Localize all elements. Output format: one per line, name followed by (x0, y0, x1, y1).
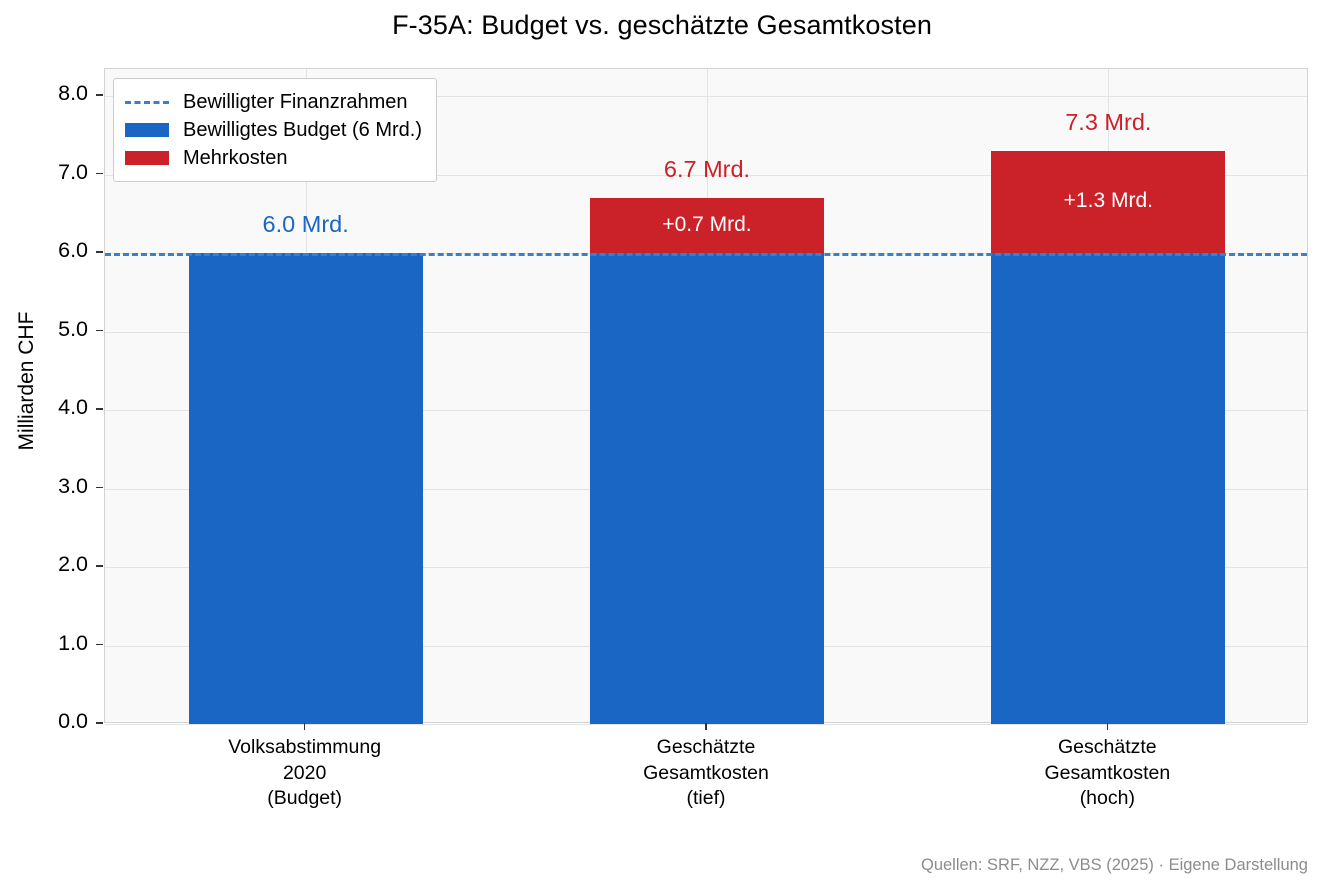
legend-dashed-line-icon (125, 95, 169, 109)
y-axis-title: Milliarden CHF (15, 181, 39, 581)
chart-title: F-35A: Budget vs. geschätzte Gesamtkoste… (0, 10, 1324, 41)
legend-swatch-icon (125, 151, 169, 165)
legend-item-label: Bewilligtes Budget (6 Mrd.) (183, 119, 422, 142)
bar-total-label: 6.7 Mrd. (590, 156, 824, 183)
y-tick-mark (96, 330, 103, 331)
y-tick-label: 4.0 (0, 395, 88, 420)
x-tick-mark (1107, 723, 1108, 730)
y-tick-label: 8.0 (0, 81, 88, 106)
x-tick-mark (705, 723, 706, 730)
bar-total-label: 6.0 Mrd. (189, 211, 423, 238)
bar-total-label: 7.3 Mrd. (991, 109, 1225, 136)
y-tick-label: 3.0 (0, 474, 88, 499)
legend-item-label: Bewilligter Finanzrahmen (183, 91, 408, 114)
legend-item[interactable]: Bewilligtes Budget (6 Mrd.) (125, 116, 422, 144)
y-tick-mark (96, 408, 103, 409)
y-tick-label: 2.0 (0, 552, 88, 577)
reference-line (105, 253, 1307, 256)
y-tick-mark (96, 565, 103, 566)
bar-overrun-label: +0.7 Mrd. (590, 213, 824, 237)
y-tick-mark (96, 173, 103, 174)
legend-item[interactable]: Bewilligter Finanzrahmen (125, 88, 422, 116)
x-tick-mark (304, 723, 305, 730)
y-tick-mark (96, 644, 103, 645)
y-tick-label: 6.0 (0, 238, 88, 263)
y-tick-mark (96, 722, 103, 723)
y-tick-mark (96, 487, 103, 488)
legend-item-label: Mehrkosten (183, 147, 288, 170)
bar-segment[interactable] (189, 253, 423, 724)
y-tick-label: 1.0 (0, 631, 88, 656)
bar-segment[interactable] (590, 253, 824, 724)
y-tick-mark (96, 94, 103, 95)
legend-swatch-icon (125, 123, 169, 137)
y-tick-label: 0.0 (0, 709, 88, 734)
source-note: Quellen: SRF, NZZ, VBS (2025) · Eigene D… (921, 856, 1308, 875)
y-tick-mark (96, 251, 103, 252)
bar-overrun-label: +1.3 Mrd. (991, 189, 1225, 213)
x-tick-label: Geschätzte Gesamtkosten (hoch) (907, 735, 1307, 812)
bar-segment[interactable] (991, 253, 1225, 724)
legend-item[interactable]: Mehrkosten (125, 144, 422, 172)
x-tick-label: Volksabstimmung 2020 (Budget) (105, 735, 505, 812)
y-tick-label: 5.0 (0, 317, 88, 342)
chart-figure: F-35A: Budget vs. geschätzte Gesamtkoste… (0, 0, 1324, 891)
y-tick-label: 7.0 (0, 160, 88, 185)
legend: Bewilligter FinanzrahmenBewilligtes Budg… (113, 78, 437, 182)
x-tick-label: Geschätzte Gesamtkosten (tief) (506, 735, 906, 812)
